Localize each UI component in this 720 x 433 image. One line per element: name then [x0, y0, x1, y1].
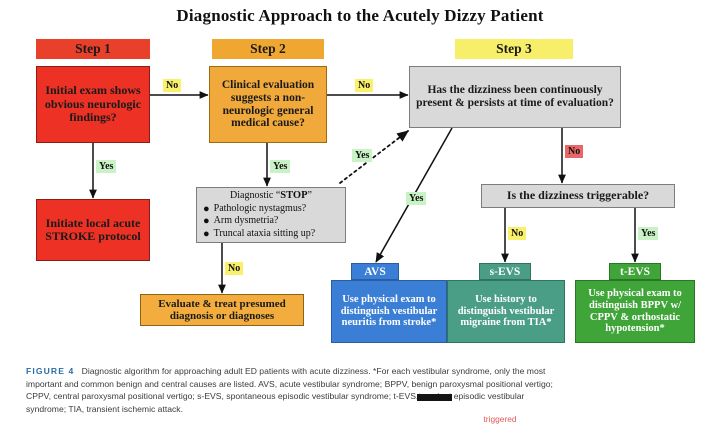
node-diagnostic-stop[interactable]: Diagnostic “STOP” ● Pathologic nystagmus… — [196, 187, 346, 243]
node-stroke-protocol[interactable]: Initiate local acute STROKE protocol — [36, 199, 150, 261]
node-clinical-evaluation[interactable]: Clinical evaluation suggests a non-neuro… — [209, 66, 327, 143]
figure-title: Diagnostic Approach to the Acutely Dizzy… — [0, 6, 720, 26]
stop-title-post: ” — [308, 190, 312, 201]
edge-label-continuous-no: No — [565, 145, 583, 158]
node-evaluate-treat[interactable]: Evaluate & treat presumed diagnosis or d… — [140, 294, 304, 326]
edge-label-step1-yes: Yes — [96, 160, 116, 173]
edge-label-step1-no: No — [163, 79, 181, 92]
figure-caption: FIGURE 4 Diagnostic algorithm for approa… — [26, 365, 698, 415]
caption-line-1-text: Diagnostic algorithm for approaching adu… — [82, 366, 546, 376]
edge-label-step2-no: No — [355, 79, 373, 92]
diagnostic-stop-title: Diagnostic “STOP” — [201, 190, 341, 203]
node-s-evs-outcome[interactable]: Use history to distinguish vestibular mi… — [447, 280, 565, 343]
edge-label-step2-yes: Yes — [270, 160, 290, 173]
edge-label-continuous-yes: Yes — [406, 192, 426, 205]
caption-line-3-b: episodic vestibular — [454, 391, 525, 401]
caption-line-3: CPPV, central paroxysmal positional vert… — [26, 390, 698, 403]
tag-s-evs: s-EVS — [479, 263, 531, 280]
bullet-icon: ● — [203, 203, 210, 215]
figure-canvas: Diagnostic Approach to the Acutely Dizzy… — [0, 0, 720, 433]
figure-number-label: FIGURE 4 — [26, 366, 74, 376]
redaction-bar — [417, 394, 452, 401]
struck-word-transient: transient — [418, 391, 451, 401]
bullet-icon: ● — [203, 228, 210, 240]
list-item: ● Pathologic nystagmus? — [201, 203, 341, 216]
list-item: ● Arm dysmetria? — [201, 215, 341, 228]
bullet-icon: ● — [203, 215, 210, 227]
edge-label-triggerable-no: No — [508, 227, 526, 240]
node-avs-outcome[interactable]: Use physical exam to distinguish vestibu… — [331, 280, 447, 343]
tag-t-evs: t-EVS — [609, 263, 661, 280]
stop-item-label: Arm dysmetria? — [214, 215, 279, 228]
edge-label-triggerable-yes: Yes — [638, 227, 658, 240]
stop-title-bold: STOP — [280, 190, 307, 201]
node-triggerable[interactable]: Is the dizziness triggerable? — [481, 184, 675, 208]
tag-avs: AVS — [351, 263, 399, 280]
stop-item-label: Pathologic nystagmus? — [214, 203, 307, 216]
step-1-header: Step 1 — [36, 39, 150, 59]
node-initial-exam[interactable]: Initial exam shows obvious neurologic fi… — [36, 66, 150, 143]
caption-line-2: important and common benign and central … — [26, 378, 698, 391]
step-2-header: Step 2 — [212, 39, 324, 59]
handwritten-annotation-triggered: triggered — [440, 414, 560, 424]
caption-line-4: syndrome; TIA, transient ischemic attack… — [26, 403, 698, 416]
caption-line-3-a: CPPV, central paroxysmal positional vert… — [26, 391, 418, 401]
step-3-header: Step 3 — [455, 39, 573, 59]
edge-label-stop-no: No — [225, 262, 243, 275]
edge-label-stop-yes: Yes — [352, 149, 372, 162]
caption-line-1: FIGURE 4 Diagnostic algorithm for approa… — [26, 365, 698, 378]
stop-title-pre: Diagnostic “ — [230, 190, 280, 201]
node-continuous-dizziness[interactable]: Has the dizziness been continuously pres… — [409, 66, 621, 128]
list-item: ● Truncal ataxia sitting up? — [201, 228, 341, 241]
stop-item-label: Truncal ataxia sitting up? — [214, 228, 316, 241]
node-t-evs-outcome[interactable]: Use physical exam to distinguish BPPV w/… — [575, 280, 695, 343]
